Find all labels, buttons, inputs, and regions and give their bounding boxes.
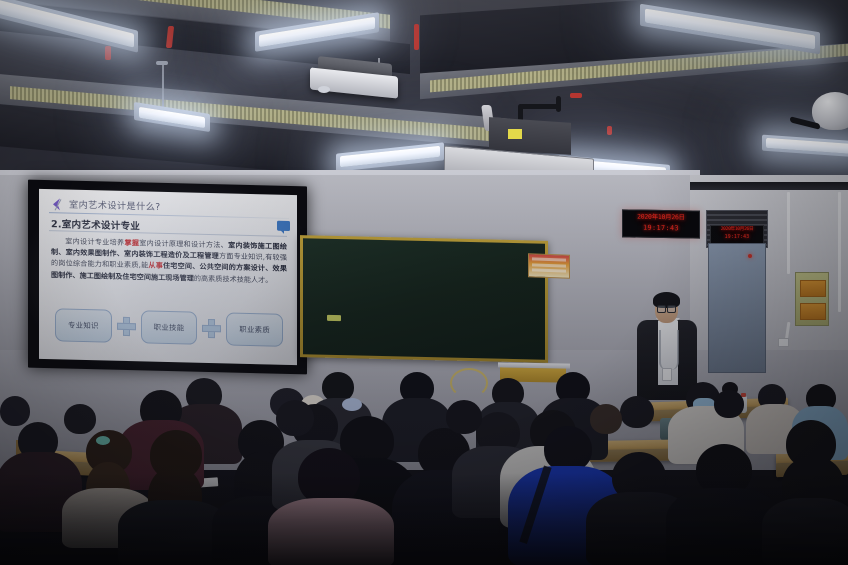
red-pipe-2	[105, 46, 111, 60]
plus-icon	[117, 316, 136, 335]
red-pipe-3	[414, 24, 419, 50]
body-run: 室内设计原理和设计方法、	[139, 238, 228, 249]
wall-hoop	[450, 368, 488, 398]
wall-transom	[690, 182, 848, 190]
lamp-stem	[162, 63, 164, 110]
presenter-lanyard	[659, 330, 679, 370]
slide-title: 室内艺术设计是什么?	[69, 197, 161, 213]
blackboard	[300, 235, 548, 363]
presentation-slide: 室内艺术设计是什么? 2.室内艺术设计专业 室内设计专业培养掌握室内设计原理和设…	[39, 189, 297, 365]
wall-conduit	[787, 192, 790, 274]
red-pipe-4	[570, 93, 582, 98]
led-time: 19:17:43	[623, 222, 699, 234]
body-run: 的高素质技术技能人才。	[194, 273, 273, 284]
classroom-door[interactable]	[708, 243, 766, 373]
student-body	[762, 498, 848, 565]
body-run: 掌握	[124, 238, 139, 247]
student-head	[620, 396, 654, 428]
electrical-wall-panel	[795, 272, 829, 326]
led-date-door: 2020年10月26日	[711, 226, 763, 234]
wall-poster	[528, 253, 570, 278]
chevron-left-icon	[49, 197, 65, 211]
projector-lens-icon	[318, 86, 330, 93]
student-body-pink	[268, 498, 394, 565]
presenter-badge	[662, 368, 672, 381]
slide-body-text: 室内设计专业培养掌握室内设计原理和设计方法、室内装饰施工图绘制、室内效果图制作、…	[51, 235, 287, 286]
student-head	[64, 404, 96, 434]
led-clock-display: 2020年10月26日 19:17:43	[622, 209, 700, 238]
student-head	[276, 400, 314, 436]
student-head	[446, 400, 482, 434]
body-run: 室内设计专业培养	[65, 236, 124, 246]
panel-cell-bottom	[800, 303, 826, 320]
blackboard-surface	[303, 238, 545, 359]
lamp-cap	[156, 61, 168, 65]
body-run: 从事	[148, 261, 163, 270]
hair-ribbon	[342, 398, 362, 411]
chip-quality: 职业素质	[226, 312, 283, 346]
wall-outlet	[778, 338, 789, 347]
student-head	[0, 396, 30, 426]
black-pipe-3	[556, 96, 561, 112]
slide-comment-icon	[277, 221, 290, 231]
classroom-scene: 室内艺术设计是什么? 2.室内艺术设计专业 室内设计专业培养掌握室内设计原理和设…	[0, 0, 848, 565]
red-pipe-5	[607, 126, 612, 135]
ac-label	[508, 129, 522, 139]
panel-cell-top	[800, 280, 826, 297]
chalk-piece	[327, 315, 341, 321]
wall-conduit-2	[838, 192, 841, 312]
plus-icon-2	[202, 318, 221, 337]
ac-grille	[489, 117, 571, 155]
chip-skill: 职业技能	[141, 310, 198, 344]
chip-knowledge: 专业知识	[55, 308, 112, 342]
slide-chip-row: 专业知识 职业技能 职业素质	[55, 307, 283, 347]
projection-screen: 室内艺术设计是什么? 2.室内艺术设计专业 室内设计专业培养掌握室内设计原理和设…	[28, 180, 307, 375]
door-indicator-led	[748, 254, 752, 258]
slide-title-bar: 室内艺术设计是什么?	[49, 196, 289, 219]
student-head	[590, 404, 622, 434]
student-head	[714, 390, 744, 418]
led-clock-display-door: 2020年10月26日 19:17:43	[710, 225, 764, 244]
hair-tie	[96, 436, 110, 445]
black-pipe-2	[520, 104, 560, 109]
glasses-icon	[657, 305, 676, 311]
led-time-door: 19:17:43	[711, 234, 763, 242]
